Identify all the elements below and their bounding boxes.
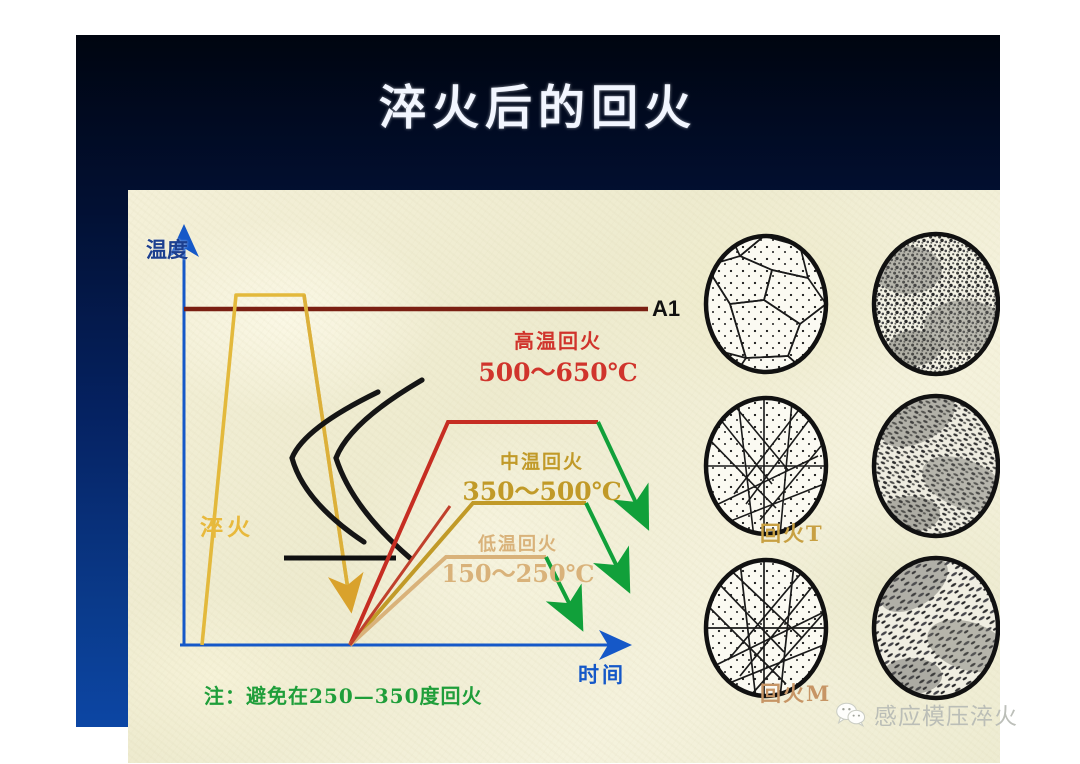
micrograph-label-middle: 回火T [760,518,824,548]
micrograph-label-bottom: 回火M [760,678,831,708]
micrograph-schematic-middle [704,398,828,538]
micrograph-grid [694,230,1000,700]
micrograph-photo-middle [872,382,1000,536]
caution-note: 注：避免在250—350度回火 [204,680,483,709]
micrograph-photo-bottom [870,545,1000,698]
quench-curve [202,295,350,645]
page-title: 淬火后的回火 [76,69,1000,138]
diagram-panel: 温度 时间 淬火 A1 高温回火 500～650℃ 中温回火 350～500℃ … [128,190,1000,763]
screenshot-root: 淬火后的回火 [0,0,1080,764]
mid-temper-title: 中温回火 [500,451,584,473]
micrograph-photo-top [874,234,1000,374]
quench-label: 淬火 [200,508,254,542]
high-temper-range: 500～650℃ [473,353,643,389]
micrograph-schematic-top [694,230,834,384]
y-axis-label: 温度 [146,238,170,261]
presentation-slide: 淬火后的回火 [76,35,1000,727]
low-temper-range: 150～250℃ [438,554,598,589]
ttt-c-curves [292,380,422,558]
high-temper-title: 高温回火 [514,329,602,353]
x-axis-label: 时间 [578,659,626,689]
mid-temper-range: 350～500℃ [458,472,626,508]
high-temper-label: 高温回火 500～650℃ [473,325,643,389]
low-temper-label: 低温回火 150～250℃ [438,530,598,589]
mid-temper-label: 中温回火 350～500℃ [458,447,626,508]
low-temper-title: 低温回火 [478,534,558,555]
a1-label: A1 [652,296,680,322]
